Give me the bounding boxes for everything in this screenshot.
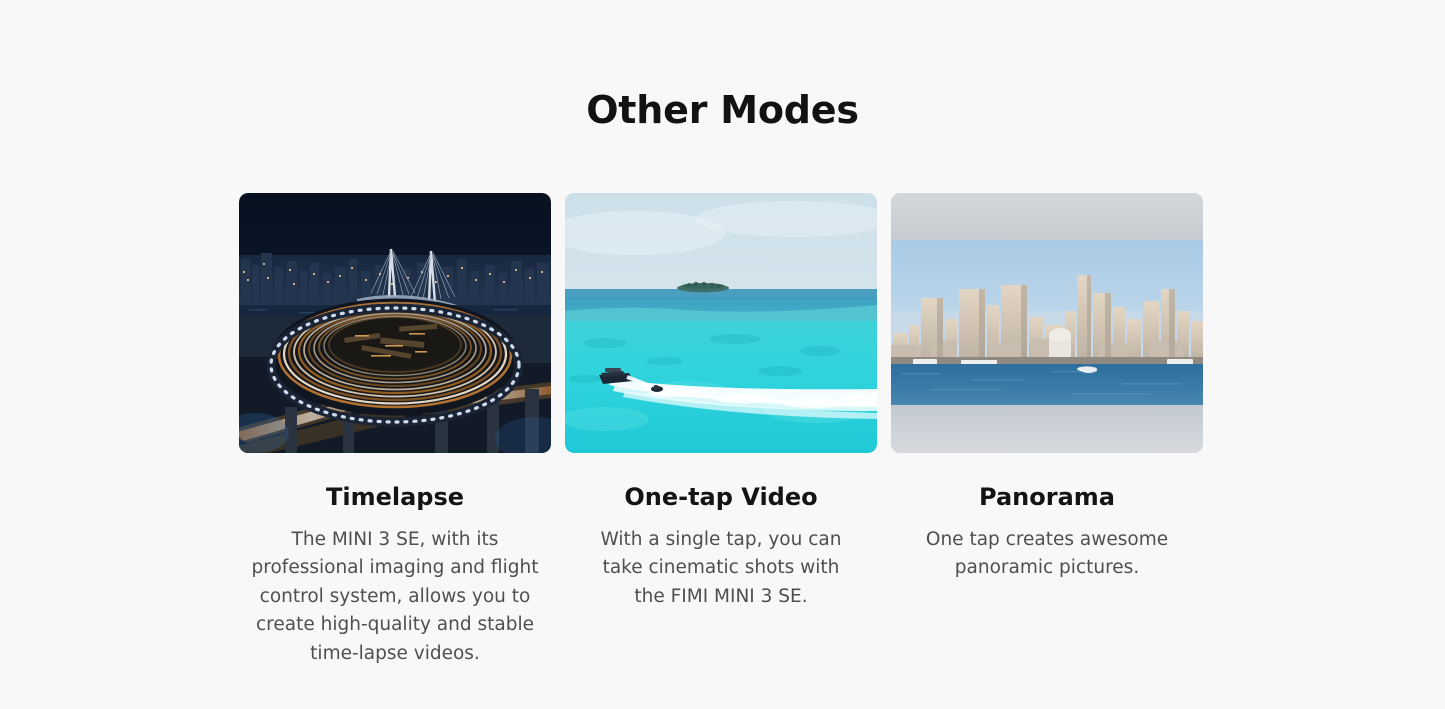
card-title: Timelapse <box>326 483 464 512</box>
mode-card-one-tap-video[interactable]: One-tap Video With a single tap, you can… <box>565 193 877 668</box>
card-description: With a single tap, you can take cinemati… <box>587 526 855 612</box>
timelapse-thumbnail[interactable] <box>239 193 551 453</box>
mode-card-panorama[interactable]: Panorama One tap creates awesome panoram… <box>891 193 1203 668</box>
card-description: One tap creates awesome panoramic pictur… <box>913 526 1181 583</box>
panorama-thumbnail[interactable] <box>891 193 1203 453</box>
card-title: One-tap Video <box>624 483 817 512</box>
night-city-spiral-interchange-light-trails-image <box>239 193 551 453</box>
page-title: Other Modes <box>0 88 1445 132</box>
one-tap-video-thumbnail[interactable] <box>565 193 877 453</box>
other-modes-section: Other Modes <box>0 0 1445 709</box>
mode-card-list: Timelapse The MINI 3 SE, with its profes… <box>239 193 1204 668</box>
city-waterfront-skyline-panorama-image <box>891 193 1203 453</box>
turquoise-ocean-speedboat-wake-image <box>565 193 877 453</box>
card-title: Panorama <box>979 483 1115 512</box>
card-description: The MINI 3 SE, with its professional ima… <box>247 526 543 669</box>
mode-card-timelapse[interactable]: Timelapse The MINI 3 SE, with its profes… <box>239 193 551 668</box>
